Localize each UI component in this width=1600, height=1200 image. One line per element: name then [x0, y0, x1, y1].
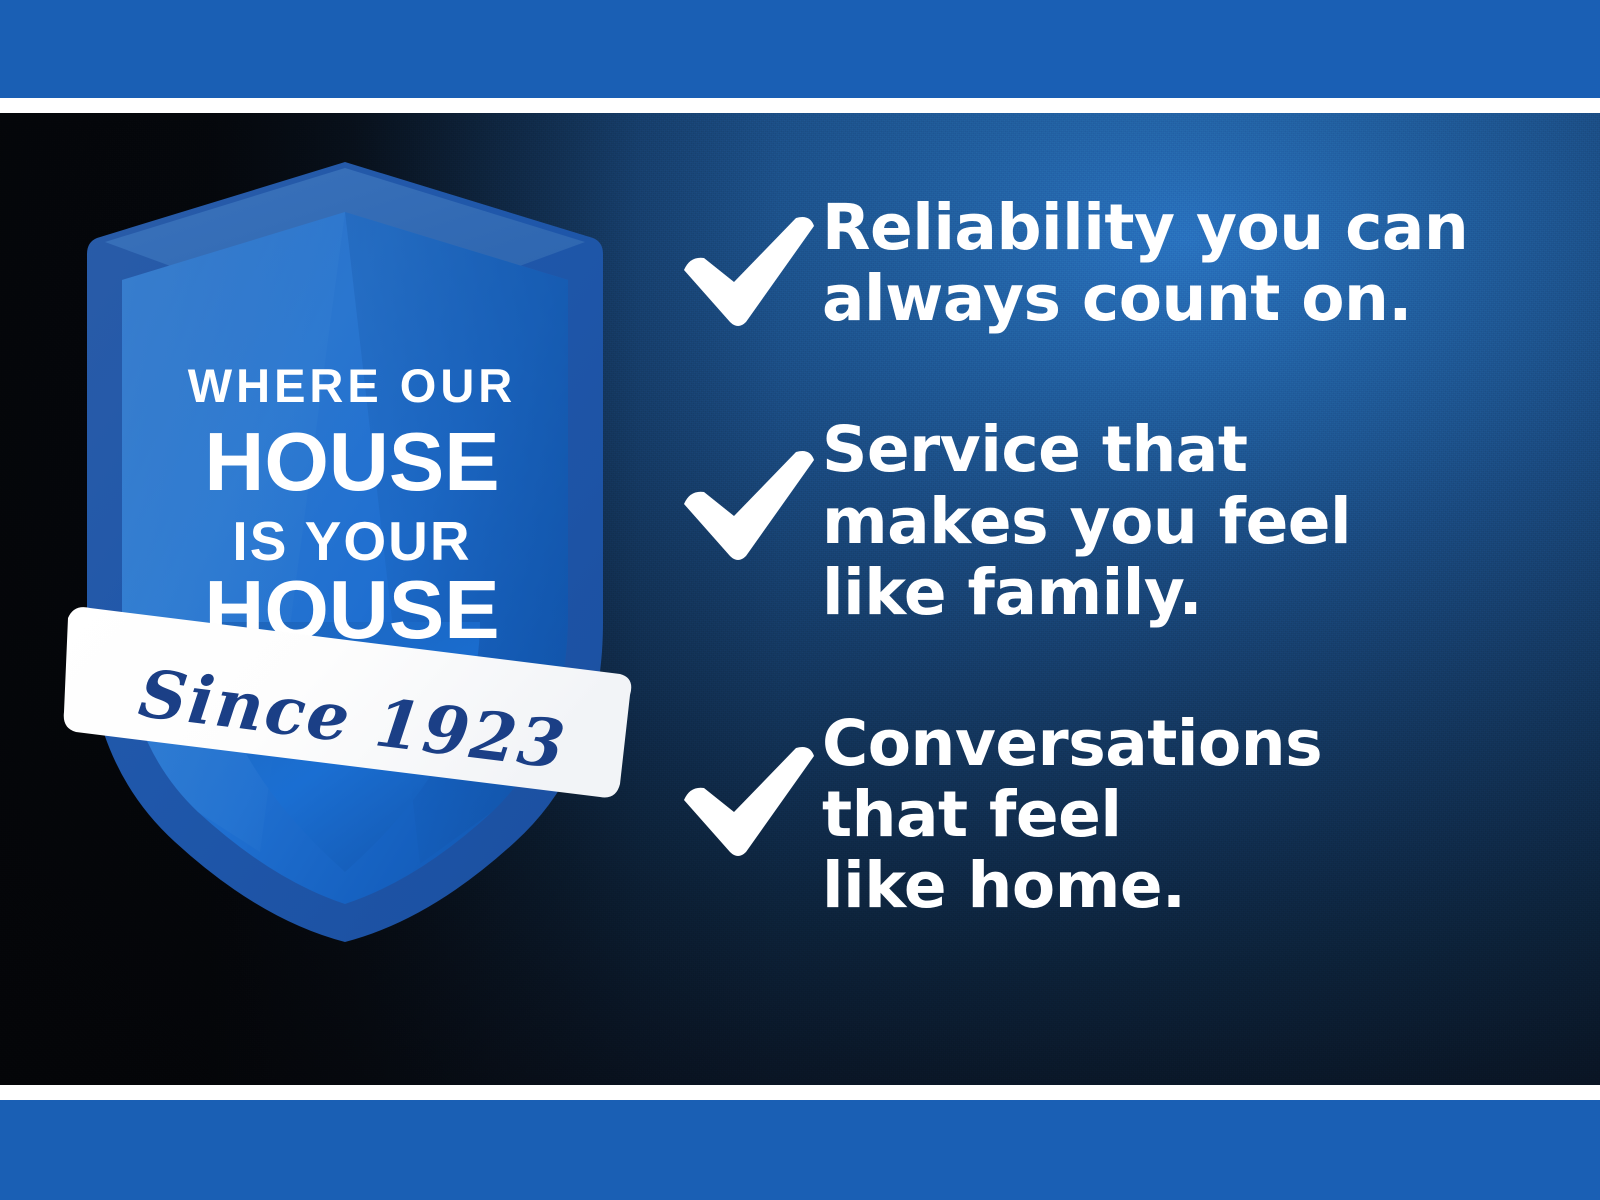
top-white-divider: [0, 98, 1600, 113]
bottom-brand-bar: [0, 1100, 1600, 1200]
check-icon: [672, 446, 822, 566]
check-icon: [672, 742, 822, 862]
benefits-list: Reliability you can always count on. Ser…: [672, 190, 1552, 922]
benefit-line: like family.: [822, 557, 1552, 628]
benefit-line: Reliability you can: [822, 192, 1552, 263]
check-icon: [672, 212, 822, 332]
badge-line-1: WHERE OUR: [188, 359, 516, 412]
benefit-item: Reliability you can always count on.: [672, 190, 1552, 334]
bottom-white-divider: [0, 1085, 1600, 1100]
benefit-text: Reliability you can always count on.: [822, 190, 1552, 334]
badge-line-2: HOUSE: [204, 415, 499, 508]
benefit-line: makes you feel: [822, 486, 1552, 557]
top-brand-bar: [0, 0, 1600, 98]
benefit-item: Conversations that feel like home.: [672, 706, 1552, 922]
benefit-line: like home.: [822, 850, 1552, 921]
benefit-item: Service that makes you feel like family.: [672, 412, 1552, 628]
benefit-line: Service that: [822, 414, 1552, 485]
benefit-line: that feel: [822, 779, 1552, 850]
benefit-text: Service that makes you feel like family.: [822, 412, 1552, 628]
shield-badge: WHERE OUR HOUSE IS YOUR HOUSE Since 1923: [60, 152, 630, 952]
promo-graphic: WHERE OUR HOUSE IS YOUR HOUSE Since 1923…: [0, 0, 1600, 1200]
benefit-line: Conversations: [822, 708, 1552, 779]
benefit-text: Conversations that feel like home.: [822, 706, 1552, 922]
benefit-line: always count on.: [822, 263, 1552, 334]
